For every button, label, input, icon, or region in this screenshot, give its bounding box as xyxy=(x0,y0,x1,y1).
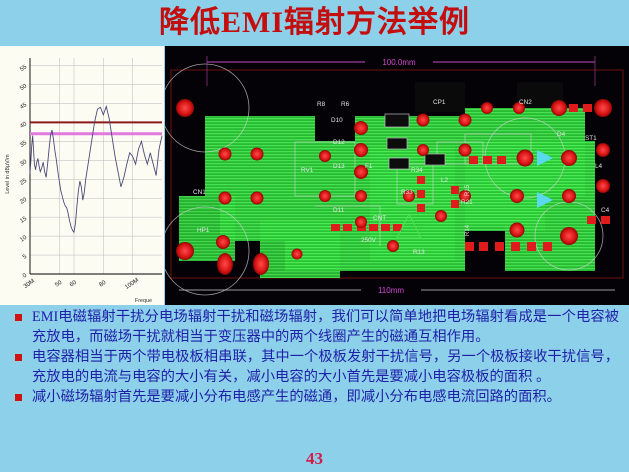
bullet-text-3: 减小磁场辐射首先是要减小分布电感产生的磁通，即减小分布电感电流回路的面积。 xyxy=(32,389,561,405)
media-band: 0510152025303540455055 30M506080100M Lev… xyxy=(0,46,629,305)
bullet-item-2: 电容器相当于两个带电极板相串联，其中一个极板发射干扰信号，另一个极板接收干扰信号… xyxy=(0,348,629,387)
pcb-label-l2: L2 xyxy=(441,177,449,184)
page-title: 降低EMI辐射方法举例 xyxy=(0,4,629,42)
pcb-label-r6: R6 xyxy=(341,101,350,108)
emi-chart-svg: 0510152025303540455055 30M506080100M Lev… xyxy=(0,46,164,305)
bullet-text-2: 电容器相当于两个带电极板相串联，其中一个极板发射干扰信号，另一个极板接收干扰信号… xyxy=(32,349,619,385)
pcb-label-cn1: CN1 xyxy=(193,189,206,196)
chart-x-axis-label: Freque xyxy=(135,298,152,304)
pcb-label-r33: R33 xyxy=(401,189,413,196)
pcb-label-r13: R13 xyxy=(413,249,425,256)
bullet-square-icon xyxy=(15,354,22,361)
bullet-item-3: 减小磁场辐射首先是要减小分布电感产生的磁通，即减小分布电感电流回路的面积。 xyxy=(0,388,629,408)
bullet-item-1: EMI电磁辐射干扰分电场辐射干扰和磁场辐射，我们可以简单地把电场辐射看成是一个电… xyxy=(0,308,629,347)
pcb-label-cp1: CP1 xyxy=(433,99,446,106)
pcb-bottom-dimension-label: 110mm xyxy=(378,286,404,295)
pcb-label-rv1: RV1 xyxy=(301,167,314,174)
pcb-label-c4: C4 xyxy=(601,207,610,214)
slide-root: 降低EMI辐射方法举例 0510152025303540455055 30M50… xyxy=(0,0,629,472)
bullet-square-icon xyxy=(15,314,22,321)
pcb-label-hp1: HP1 xyxy=(197,227,210,234)
pcb-layout-svg: 100.0mm 110mm D10 D12 D13 D11 CN1 HP1 RV… xyxy=(165,46,629,305)
pcb-label-l4: L4 xyxy=(595,163,603,170)
chart-y-axis-label: Level in dBµV/m xyxy=(5,154,11,194)
pcb-label-r34: R34 xyxy=(411,167,423,174)
pcb-label-d11: D11 xyxy=(333,207,345,214)
pcb-label-d4: D4 xyxy=(557,131,566,138)
pcb-label-f1: F1 xyxy=(365,163,373,170)
pcb-label-d10: D10 xyxy=(331,117,343,124)
bullet-list: EMI电磁辐射干扰分电场辐射干扰和磁场辐射，我们可以简单地把电场辐射看成是一个电… xyxy=(0,308,629,438)
pcb-top-dimension-label: 100.0mm xyxy=(382,58,416,67)
pcb-label-cnt: CNT xyxy=(373,215,386,222)
pcb-label-st1: ST1 xyxy=(585,135,597,142)
pcb-label-r8: R8 xyxy=(317,101,326,108)
bullet-text-1: EMI电磁辐射干扰分电场辐射干扰和磁场辐射，我们可以简单地把电场辐射看成是一个电… xyxy=(32,309,619,345)
pcb-label-250v: 250V xyxy=(361,237,377,244)
emi-emission-chart: 0510152025303540455055 30M506080100M Lev… xyxy=(0,46,164,305)
pcb-label-r15: R15 xyxy=(465,184,471,196)
pcb-label-d12: D12 xyxy=(333,139,345,146)
pcb-label-d13: D13 xyxy=(333,163,345,170)
pcb-label-r21: R21 xyxy=(461,199,473,206)
page-number: 43 xyxy=(0,449,629,469)
pcb-label-r14: R14 xyxy=(465,224,471,236)
bullet-square-icon xyxy=(15,394,22,401)
pcb-label-cn2: CN2 xyxy=(519,99,532,106)
pcb-layout-image: 100.0mm 110mm D10 D12 D13 D11 CN1 HP1 RV… xyxy=(165,46,629,305)
